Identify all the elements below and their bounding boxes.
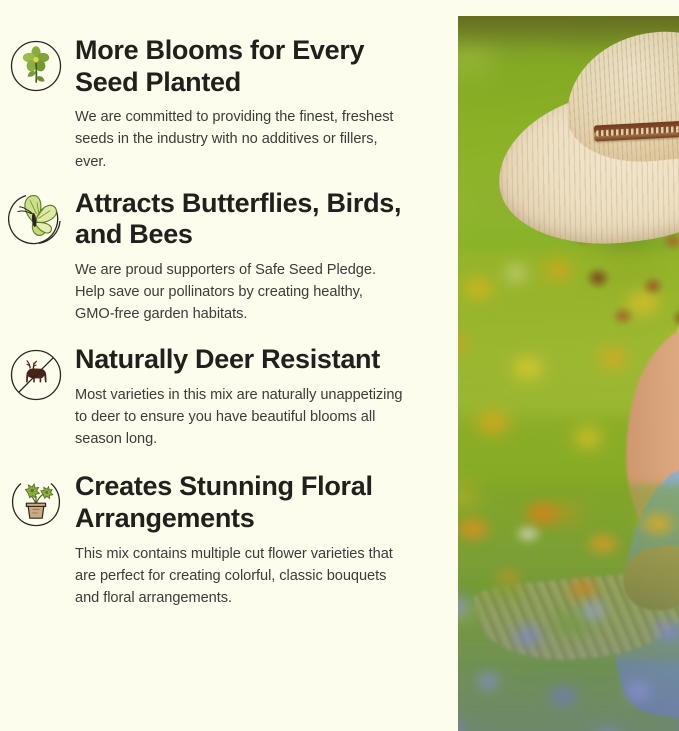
lifestyle-photo [458, 16, 679, 731]
feature-item-deer-resistant: Naturally Deer Resistant Most varieties … [8, 343, 404, 450]
feature-item-more-blooms: More Blooms for Every Seed Planted We ar… [8, 34, 404, 173]
purple-flower-foreground [458, 486, 679, 731]
feature-text-block: More Blooms for Every Seed Planted We ar… [64, 34, 404, 173]
feature-body: This mix contains multiple cut flower va… [75, 543, 404, 610]
butterfly-icon [8, 191, 64, 247]
feature-title: More Blooms for Every Seed Planted [75, 35, 404, 98]
feature-body: We are proud supporters of Safe Seed Ple… [75, 259, 404, 326]
feature-text-block: Creates Stunning Floral Arrangements Thi… [64, 470, 404, 609]
feature-item-attracts-pollinators: Attracts Butterflies, Birds, and Bees We… [8, 187, 404, 326]
feature-text-block: Naturally Deer Resistant Most varieties … [64, 343, 404, 450]
feature-body: We are committed to providing the finest… [75, 106, 404, 173]
feature-body: Most varieties in this mix are naturally… [75, 384, 404, 451]
feature-title: Naturally Deer Resistant [75, 344, 404, 376]
features-panel: More Blooms for Every Seed Planted We ar… [0, 0, 418, 715]
feature-title: Creates Stunning Floral Arrangements [75, 471, 404, 534]
feature-title: Attracts Butterflies, Birds, and Bees [75, 188, 404, 251]
feature-text-block: Attracts Butterflies, Birds, and Bees We… [64, 187, 404, 326]
deer-resistant-icon [8, 347, 64, 403]
potted-plant-icon [8, 474, 64, 530]
feature-item-floral-arrangements: Creates Stunning Floral Arrangements Thi… [8, 470, 404, 609]
product-feature-page: More Blooms for Every Seed Planted We ar… [0, 0, 679, 715]
flower-sprout-icon [8, 38, 64, 94]
